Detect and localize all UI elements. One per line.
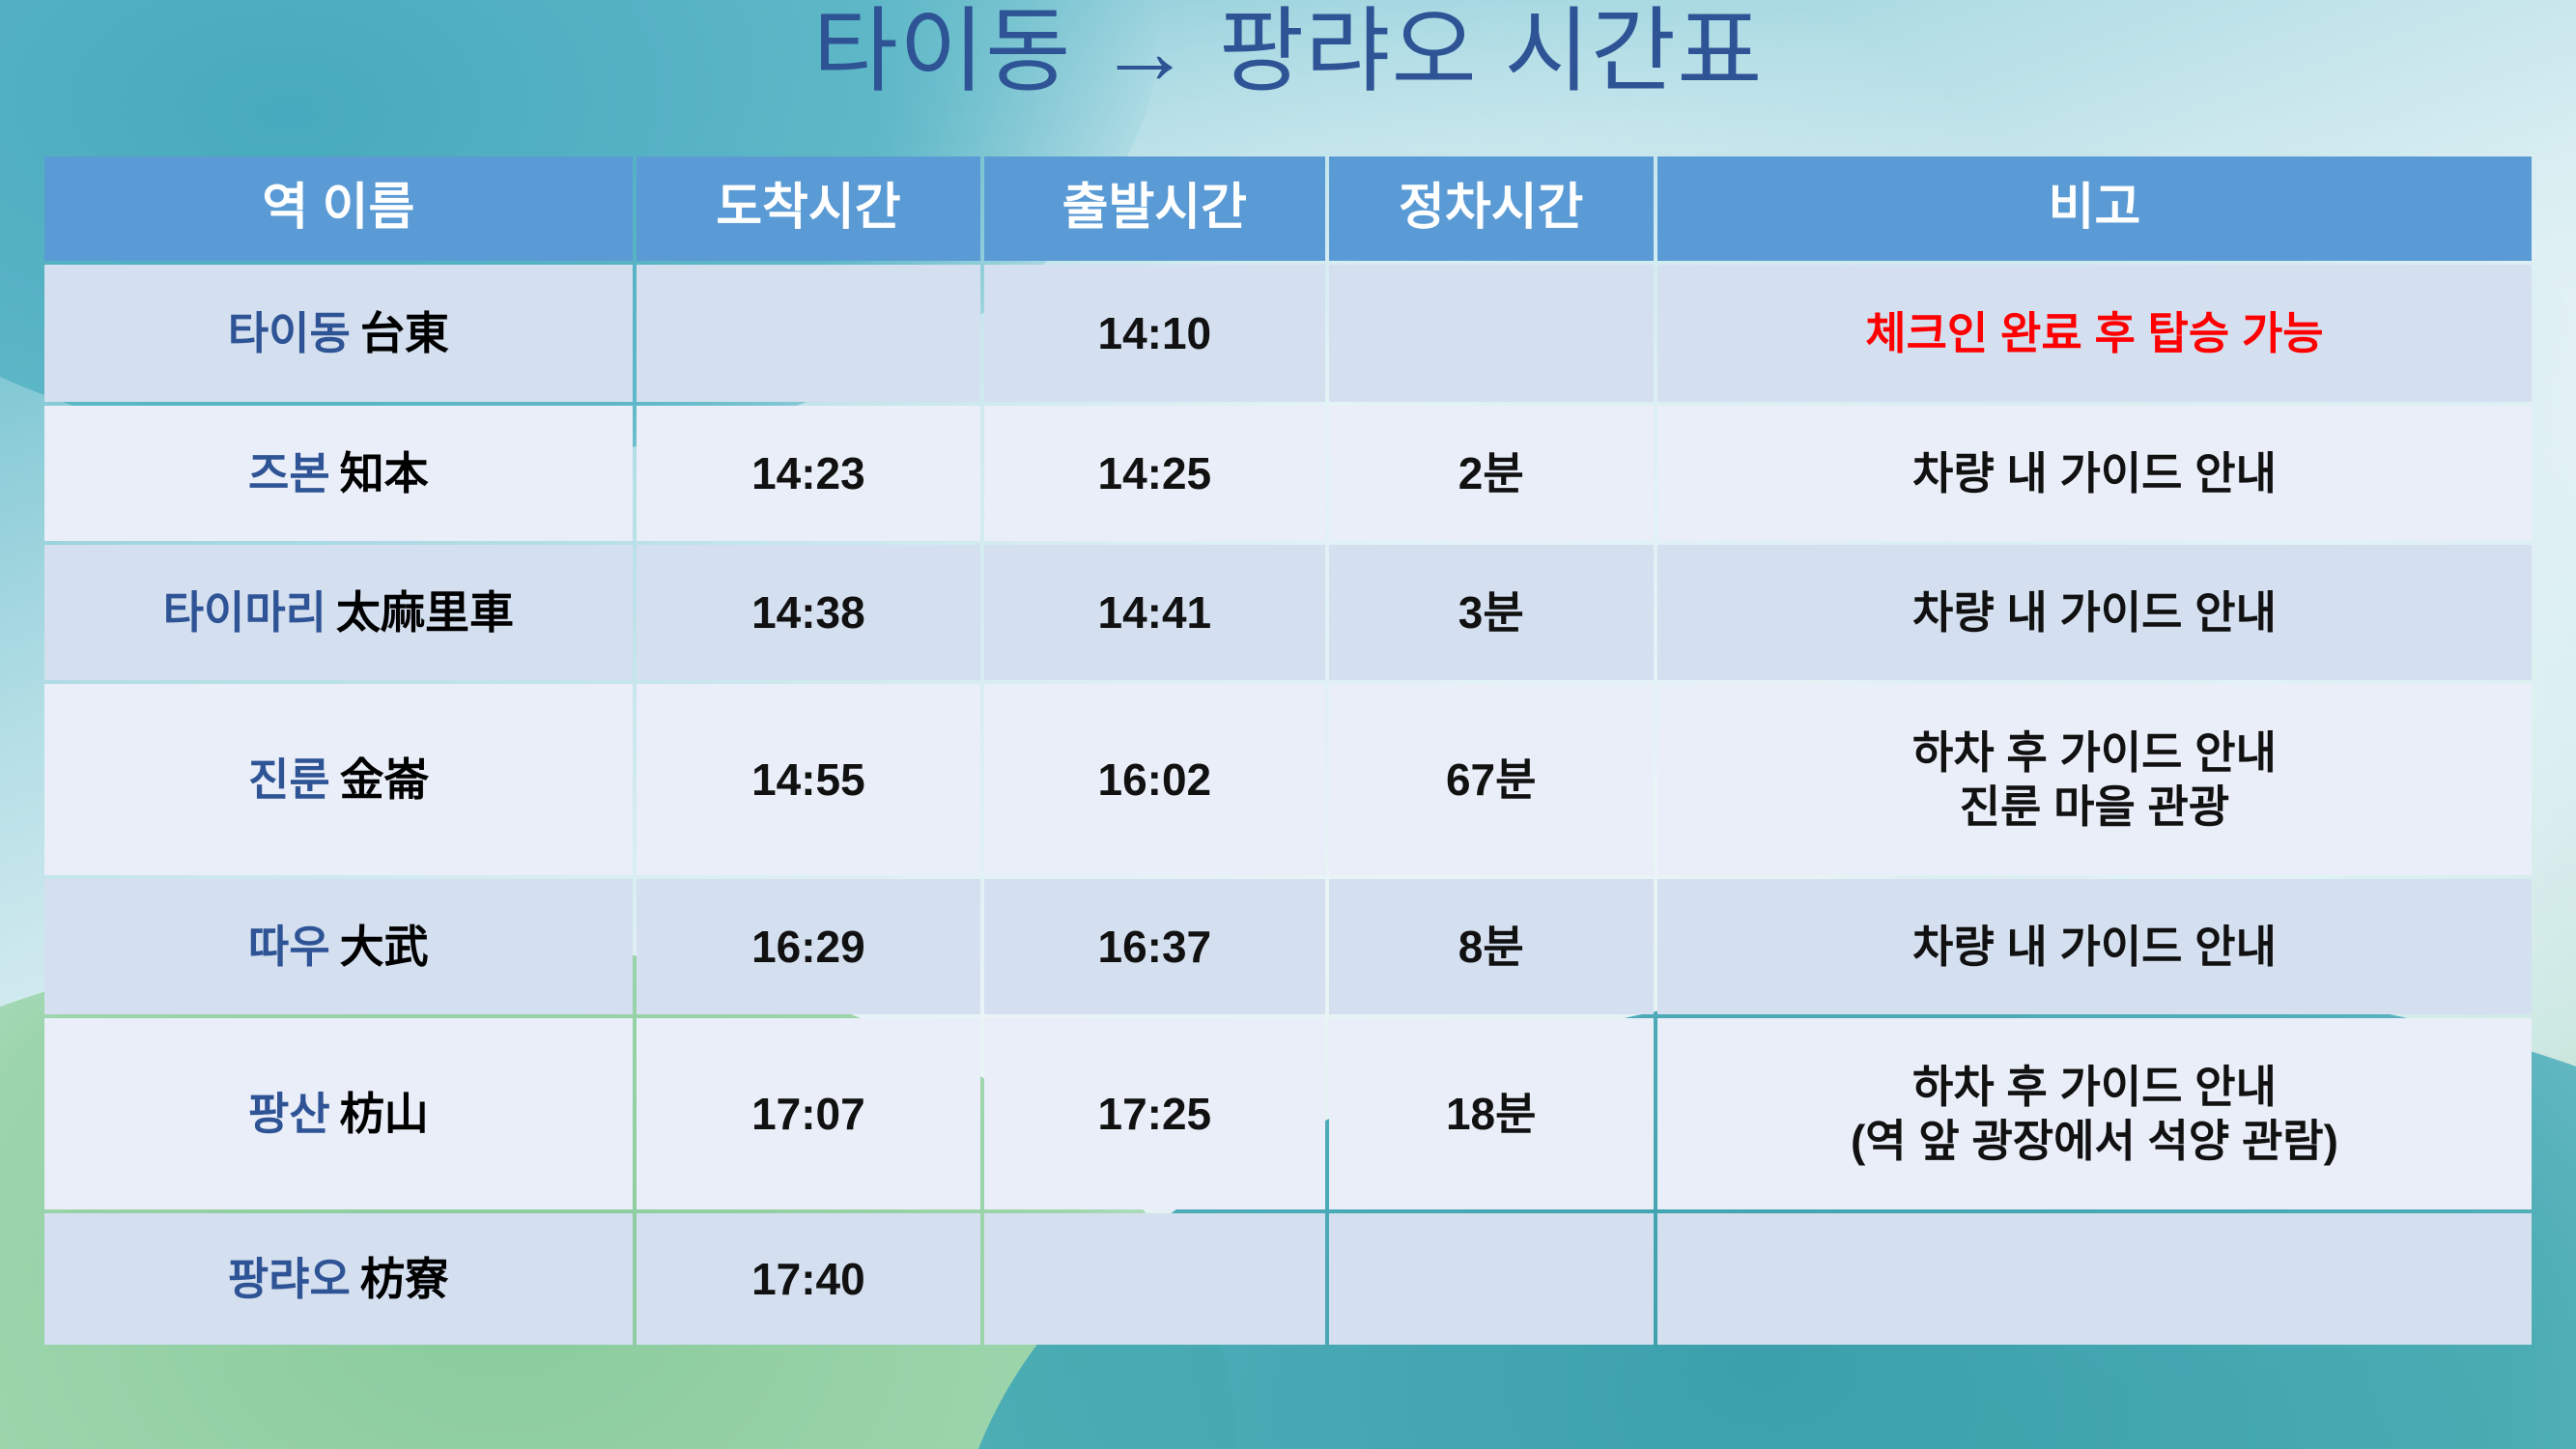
- timetable: 역 이름 도착시간 출발시간 정차시간 비고 타이동台東 14:10 체크인: [41, 153, 2535, 1349]
- cell-station: 팡산枋山: [44, 1018, 633, 1209]
- remark-line-1: 체크인 완료 후 탑승 가능: [1865, 308, 2323, 358]
- cell-stop-duration: [1329, 265, 1654, 402]
- cell-remarks: [1657, 1213, 2532, 1345]
- cell-remarks: 차량 내 가이드 안내: [1657, 406, 2532, 541]
- table-row: 진룬金崙 14:55 16:02 67분 하차 후 가이드 안내 진룬 마을 관…: [44, 684, 2532, 875]
- cell-station: 따우大武: [44, 879, 633, 1014]
- column-header-stop-duration: 정차시간: [1329, 156, 1654, 261]
- cell-stop-duration: 3분: [1329, 545, 1654, 680]
- cell-station: 타이동台東: [44, 265, 633, 402]
- cell-departure: [984, 1213, 1324, 1345]
- station-name-korean: 팡랴오: [228, 1254, 351, 1304]
- cell-stop-duration: 8분: [1329, 879, 1654, 1014]
- station-name-chinese: 太麻里車: [326, 587, 514, 638]
- station-name-korean: 진룬: [248, 754, 330, 805]
- cell-departure: 14:10: [984, 265, 1324, 402]
- cell-station: 팡랴오枋寮: [44, 1213, 633, 1345]
- timetable-container: 역 이름 도착시간 출발시간 정차시간 비고 타이동台東 14:10 체크인: [41, 153, 2535, 1349]
- cell-stop-duration: 18분: [1329, 1018, 1654, 1209]
- remark-line-2: 진룬 마을 관광: [1667, 780, 2522, 834]
- cell-arrival: 17:40: [637, 1213, 980, 1345]
- table-row: 즈본知本 14:23 14:25 2분 차량 내 가이드 안내: [44, 406, 2532, 541]
- station-name-chinese: 金崙: [330, 754, 429, 805]
- remark-line-1: 차량 내 가이드 안내: [1912, 922, 2277, 972]
- remark-line-1: 하차 후 가이드 안내: [1667, 1060, 2522, 1114]
- column-header-departure: 출발시간: [984, 156, 1324, 261]
- slide: 타이동 → 팡랴오 시간표 역 이름 도착시간 출발시간 정차시간 비고: [0, 0, 2576, 1449]
- table-header-row: 역 이름 도착시간 출발시간 정차시간 비고: [44, 156, 2532, 261]
- station-name-korean: 타이마리: [163, 587, 326, 638]
- cell-departure: 14:25: [984, 406, 1324, 541]
- cell-arrival: 14:55: [637, 684, 980, 875]
- table-row: 따우大武 16:29 16:37 8분 차량 내 가이드 안내: [44, 879, 2532, 1014]
- column-header-arrival: 도착시간: [637, 156, 980, 261]
- station-name-korean: 팡산: [248, 1089, 330, 1139]
- timetable-body: 타이동台東 14:10 체크인 완료 후 탑승 가능 즈본知本 14:23 14…: [44, 265, 2532, 1345]
- cell-departure: 16:02: [984, 684, 1324, 875]
- remark-line-2: (역 앞 광장에서 석양 관람): [1667, 1114, 2522, 1168]
- table-row: 팡산枋山 17:07 17:25 18분 하차 후 가이드 안내 (역 앞 광장…: [44, 1018, 2532, 1209]
- remark-line-1: 차량 내 가이드 안내: [1912, 587, 2277, 638]
- station-name-korean: 따우: [248, 922, 330, 972]
- cell-arrival: 16:29: [637, 879, 980, 1014]
- table-row: 타이동台東 14:10 체크인 완료 후 탑승 가능: [44, 265, 2532, 402]
- station-name-korean: 타이동: [228, 308, 351, 358]
- remark-line-1: 하차 후 가이드 안내: [1667, 725, 2522, 780]
- station-name-chinese: 大武: [330, 922, 429, 972]
- timetable-header: 역 이름 도착시간 출발시간 정차시간 비고: [44, 156, 2532, 261]
- station-name-chinese: 枋寮: [351, 1254, 449, 1304]
- cell-remarks: 차량 내 가이드 안내: [1657, 879, 2532, 1014]
- cell-stop-duration: 2분: [1329, 406, 1654, 541]
- cell-departure: 14:41: [984, 545, 1324, 680]
- page-title: 타이동 → 팡랴오 시간표: [0, 2, 2576, 102]
- column-header-station: 역 이름: [44, 156, 633, 261]
- cell-remarks: 하차 후 가이드 안내 (역 앞 광장에서 석양 관람): [1657, 1018, 2532, 1209]
- station-name-chinese: 枋山: [330, 1089, 429, 1139]
- table-row: 타이마리太麻里車 14:38 14:41 3분 차량 내 가이드 안내: [44, 545, 2532, 680]
- cell-departure: 16:37: [984, 879, 1324, 1014]
- cell-departure: 17:25: [984, 1018, 1324, 1209]
- table-row: 팡랴오枋寮 17:40: [44, 1213, 2532, 1345]
- station-name-chinese: 知本: [330, 448, 429, 498]
- cell-remarks: 체크인 완료 후 탑승 가능: [1657, 265, 2532, 402]
- station-name-chinese: 台東: [351, 308, 449, 358]
- cell-arrival: 14:23: [637, 406, 980, 541]
- cell-station: 즈본知本: [44, 406, 633, 541]
- cell-station: 타이마리太麻里車: [44, 545, 633, 680]
- cell-remarks: 차량 내 가이드 안내: [1657, 545, 2532, 680]
- cell-stop-duration: 67분: [1329, 684, 1654, 875]
- station-name-korean: 즈본: [248, 448, 330, 498]
- cell-arrival: 17:07: [637, 1018, 980, 1209]
- cell-arrival: 14:38: [637, 545, 980, 680]
- cell-arrival: [637, 265, 980, 402]
- cell-remarks: 하차 후 가이드 안내 진룬 마을 관광: [1657, 684, 2532, 875]
- cell-stop-duration: [1329, 1213, 1654, 1345]
- column-header-remarks: 비고: [1657, 156, 2532, 261]
- cell-station: 진룬金崙: [44, 684, 633, 875]
- remark-line-1: 차량 내 가이드 안내: [1912, 448, 2277, 498]
